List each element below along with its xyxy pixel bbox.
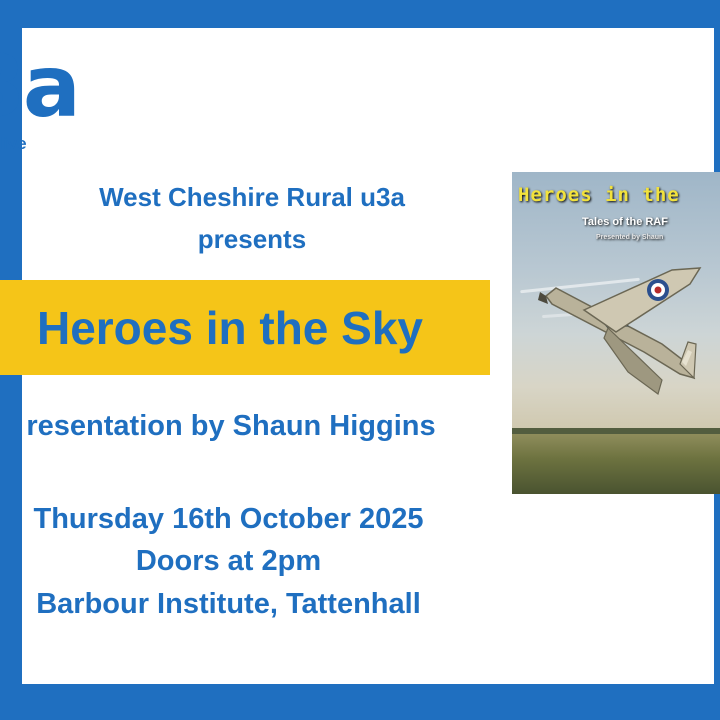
organisation-name: West Cheshire Rural u3a: [22, 182, 482, 213]
flyer-page: 3a gh, live West Cheshire Rural u3a pres…: [0, 0, 720, 720]
bottom-white-gap: [22, 672, 714, 684]
event-doors-time: Doors at 2pm: [0, 545, 481, 578]
u3a-logo-tagline: gh, live: [0, 134, 27, 154]
event-date: Thursday 16th October 2025: [0, 503, 481, 536]
event-venue: Barbour Institute, Tattenhall: [0, 588, 481, 621]
bottom-blue-bar: [0, 684, 720, 720]
event-title: Heroes in the Sky: [0, 292, 490, 364]
book-cover-image: Heroes in the Tales of the RAF Presented…: [512, 172, 720, 494]
top-blue-bar: [0, 0, 720, 28]
spitfire-aircraft-icon: [512, 232, 720, 442]
cover-byline: Presented by Shaun: [596, 234, 720, 241]
event-subtitle: resentation by Shaun Higgins: [0, 410, 486, 443]
cover-subtitle: Tales of the RAF: [582, 216, 720, 228]
presents-label: presents: [22, 224, 482, 255]
u3a-logo-glyph: 3a: [0, 44, 78, 130]
cover-ground: [512, 434, 720, 494]
cover-title: Heroes in the: [518, 184, 720, 206]
u3a-logo: 3a gh, live: [0, 44, 96, 154]
